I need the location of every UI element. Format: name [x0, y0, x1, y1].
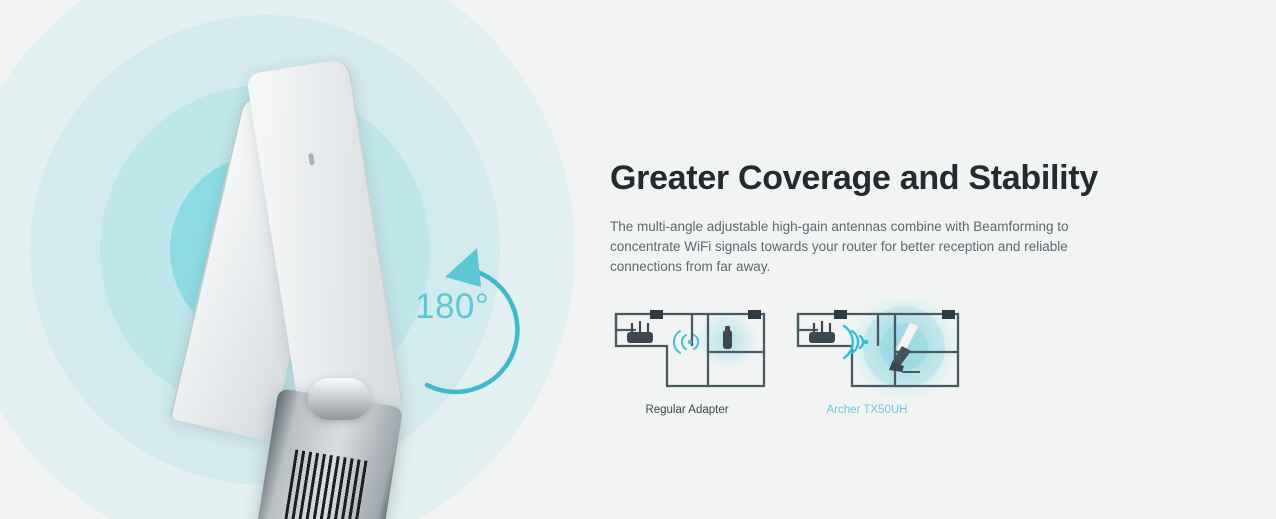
page-title: Greater Coverage and Stability	[610, 159, 1098, 198]
content-column: Greater Coverage and Stability The multi…	[610, 0, 1276, 519]
led-indicator-icon	[308, 153, 315, 166]
diagram-caption-archer: Archer TX50UH	[772, 404, 962, 416]
hinge	[308, 378, 370, 420]
product-visual-panel: 180°	[0, 0, 600, 519]
floorplan-archer-icon	[792, 300, 967, 400]
diagram-regular-adapter: Regular Adapter	[610, 300, 770, 405]
floorplan-regular-icon	[610, 300, 770, 400]
description-text: The multi-angle adjustable high-gain ant…	[610, 217, 1072, 277]
router-icon	[809, 321, 835, 343]
rotation-indicator: 180°	[405, 235, 535, 400]
vent-slots	[283, 449, 371, 519]
diagram-caption-regular: Regular Adapter	[592, 404, 782, 416]
router-icon	[627, 321, 653, 343]
diagram-archer-tx50uh: Archer TX50UH	[792, 300, 967, 405]
rotation-angle-label: 180°	[415, 287, 489, 327]
